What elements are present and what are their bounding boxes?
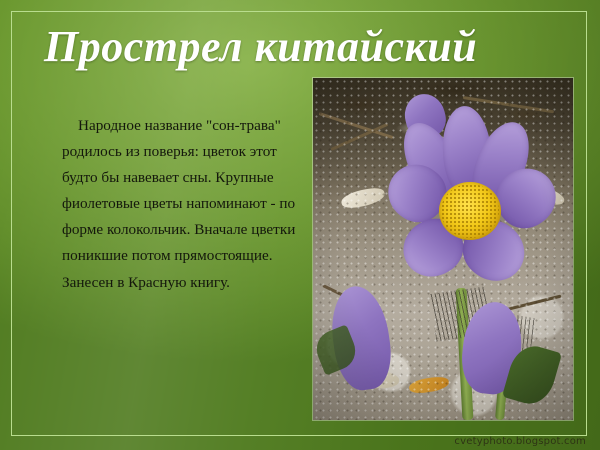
watermark-text: cvetyphoto.blogspot.com [454,436,586,447]
slide-body-text: Народное название "сон-трава" родилось и… [62,113,312,296]
photo-vignette [313,78,573,420]
slide-title: Прострел китайский [44,20,477,74]
presentation-slide: Прострел китайский Народное название "со… [0,0,600,450]
flower-photo [313,78,573,420]
